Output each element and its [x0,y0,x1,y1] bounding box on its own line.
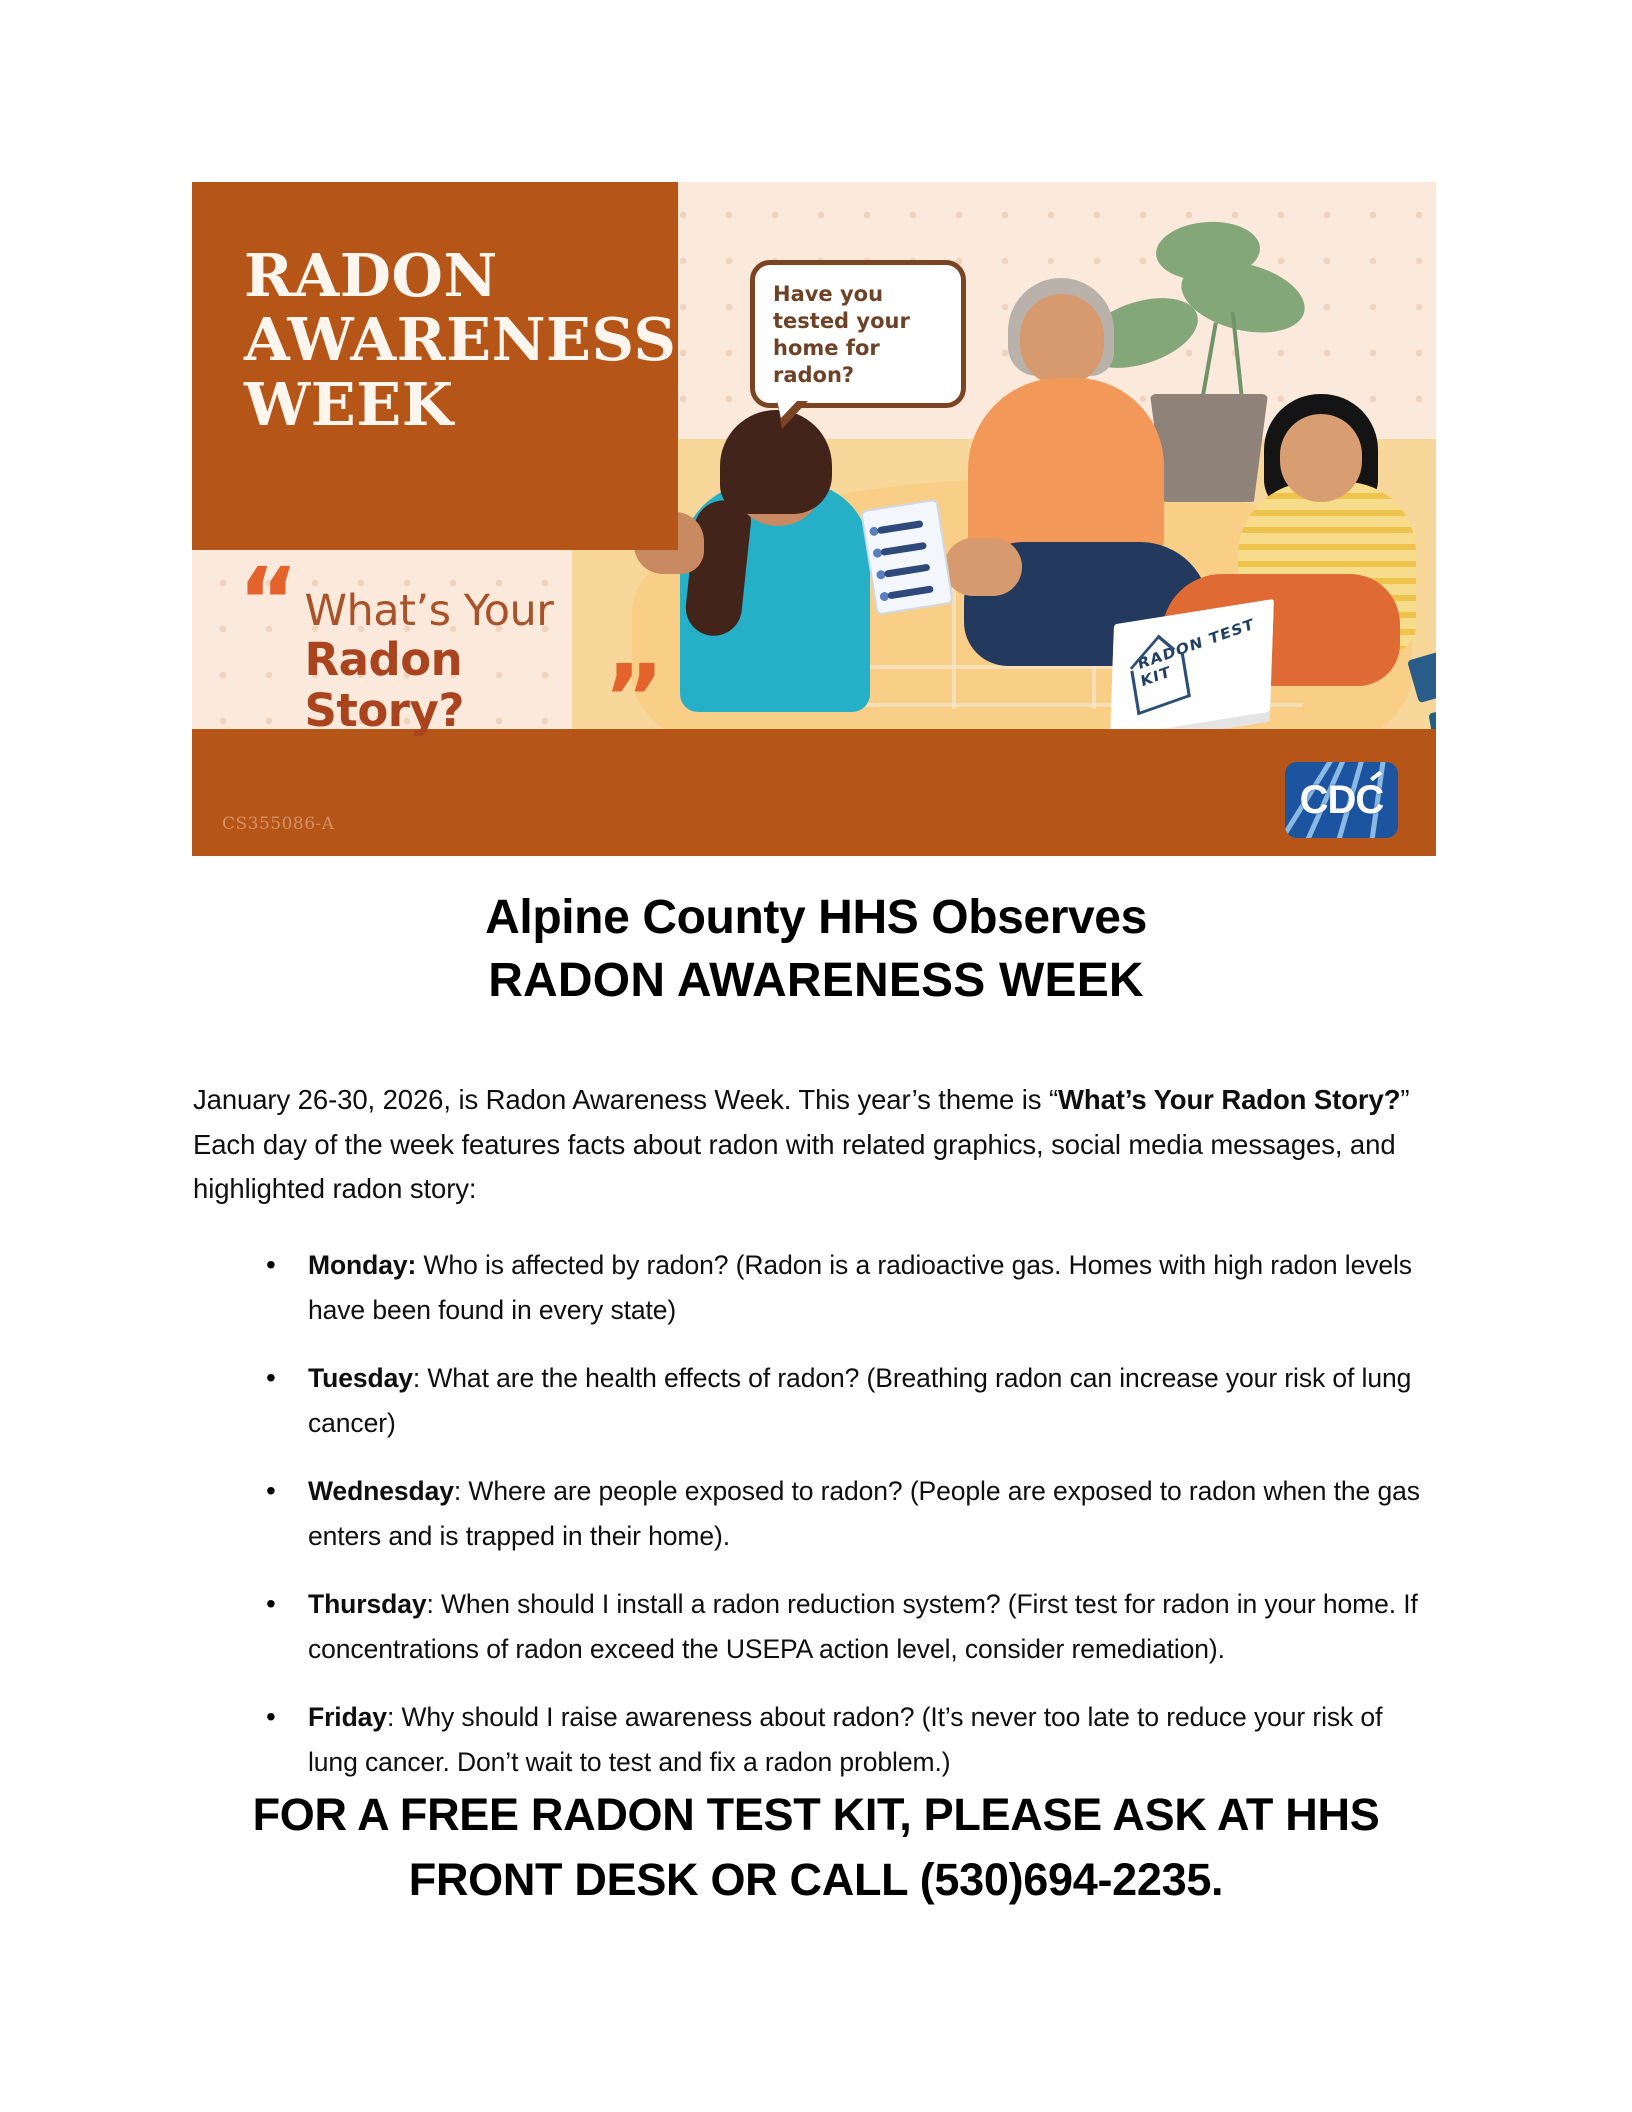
person-teal-hairtop [720,410,832,514]
list-item-day: Monday: [308,1250,416,1280]
list-item-text: : Why should I raise awareness about rad… [308,1702,1382,1777]
flyer-page: RADON TEST KIT Have you tested your home… [0,0,1632,2112]
clipboard-icon [860,499,954,616]
intro-text-part-1: January 26-30, 2026, is Radon Awareness … [193,1084,1058,1115]
speech-bubble: Have you tested your home for radon? [750,260,966,408]
tagline-line-1: What’s Your [304,588,597,635]
call-to-action-line-1: FOR A FREE RADON TEST KIT, PLEASE ASK AT… [0,1782,1632,1847]
list-item-text: : What are the health effects of radon? … [308,1363,1411,1438]
speech-bubble-tail-inner [777,400,798,418]
list-item-day: Friday [308,1702,387,1732]
list-item-text: Who is affected by radon? (Radon is a ra… [308,1250,1412,1325]
page-title-line-2: RADON AWARENESS WEEK [0,949,1632,1012]
intro-theme-bold: What’s Your Radon Story? [1058,1084,1400,1115]
list-item: Friday: Why should I raise awareness abo… [238,1695,1438,1784]
person-orange-arm [944,538,1022,596]
list-item-day: Thursday [308,1589,426,1619]
call-to-action-line-2: FRONT DESK OR CALL (530)694-2235. [0,1847,1632,1912]
cdc-logo: CDC [1285,762,1398,838]
list-item-text: : Where are people exposed to radon? (Pe… [308,1476,1420,1551]
cs-code-label: CS355086-A [222,814,335,834]
list-item: Tuesday: What are the health effects of … [238,1356,1438,1445]
list-item: Monday: Who is affected by radon? (Radon… [238,1243,1438,1332]
quote-close-icon: ” [604,671,658,726]
plant-pot [1150,394,1268,502]
list-item-text: : When should I install a radon reductio… [308,1589,1418,1664]
speech-bubble-text: Have you tested your home for radon? [773,281,945,389]
quote-open-icon: “ [238,574,292,629]
banner-headline-line-2: AWARENESS [244,308,676,372]
tagline-line-2: Radon Story? [304,635,597,736]
person-orange-head [1020,294,1104,386]
banner-headline-line-1: RADON [244,244,676,308]
list-item-day: Tuesday [308,1363,413,1393]
banner-title-block: RADON AWARENESS WEEK [192,182,678,550]
page-title-line-1: Alpine County HHS Observes [0,886,1632,949]
banner-tagline: “ What’s Your Radon Story? ” [238,574,658,736]
radon-awareness-banner: RADON TEST KIT Have you tested your home… [192,182,1436,856]
call-to-action: FOR A FREE RADON TEST KIT, PLEASE ASK AT… [0,1782,1632,1913]
banner-bottom-strip: CS355086-A [192,729,1436,856]
person-yellow-head [1280,414,1362,502]
page-title: Alpine County HHS Observes RADON AWARENE… [0,886,1632,1013]
list-item: Thursday: When should I install a radon … [238,1582,1438,1671]
list-item: Wednesday: Where are people exposed to r… [238,1469,1438,1558]
banner-headline-line-3: WEEK [244,373,676,437]
banner-illustration: RADON TEST KIT Have you tested your home… [572,182,1436,729]
intro-paragraph: January 26-30, 2026, is Radon Awareness … [193,1078,1436,1212]
list-item-day: Wednesday [308,1476,454,1506]
banner-headline: RADON AWARENESS WEEK [244,244,676,437]
daily-facts-list: Monday: Who is affected by radon? (Radon… [238,1243,1438,1808]
